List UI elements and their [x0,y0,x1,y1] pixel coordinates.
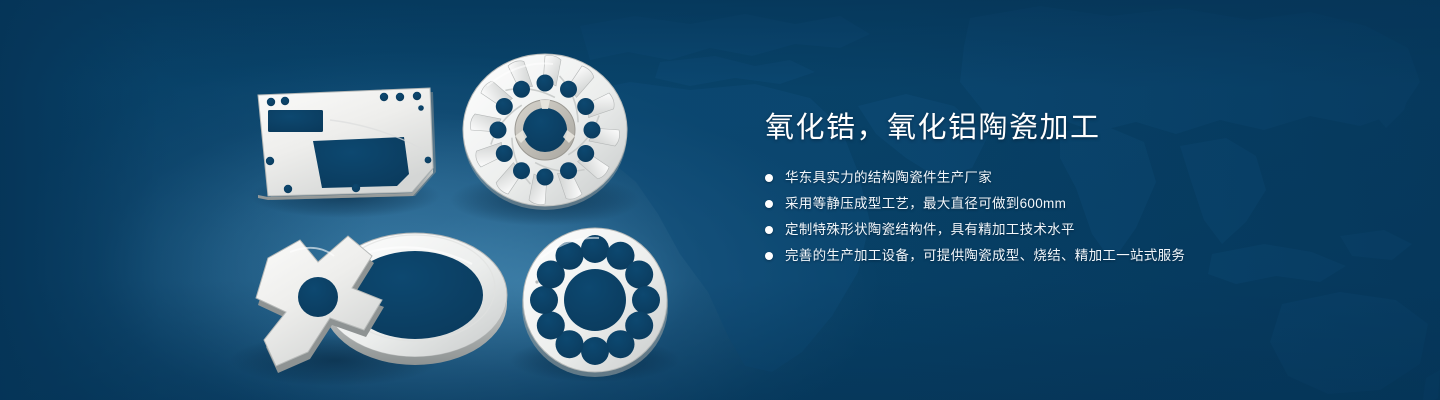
ceramic-holed-disc-part [522,228,668,377]
ceramic-products-photo [0,0,720,400]
bullet-dot-icon [765,200,773,208]
feature-text: 华东具实力的结构陶瓷件生产厂家 [785,166,992,190]
ceramic-plate-part [258,88,436,200]
list-item: 完善的生产加工设备，可提供陶瓷成型、烧结、精加工一站式服务 [765,244,1385,268]
ceramic-impeller-part [463,54,627,210]
page-title: 氧化锆，氧化铝陶瓷加工 [765,108,1385,148]
list-item: 采用等静压成型工艺，最大直径可做到600mm [765,192,1385,216]
bullet-dot-icon [765,252,773,260]
hero-banner: 氧化锆，氧化铝陶瓷加工 华东具实力的结构陶瓷件生产厂家 采用等静压成型工艺，最大… [0,0,1440,400]
list-item: 定制特殊形状陶瓷结构件，具有精加工技术水平 [765,218,1385,242]
banner-copy: 氧化锆，氧化铝陶瓷加工 华东具实力的结构陶瓷件生产厂家 采用等静压成型工艺，最大… [765,108,1385,268]
feature-list: 华东具实力的结构陶瓷件生产厂家 采用等静压成型工艺，最大直径可做到600mm 定… [765,166,1385,268]
bullet-dot-icon [765,174,773,182]
feature-text: 定制特殊形状陶瓷结构件，具有精加工技术水平 [785,218,1075,242]
list-item: 华东具实力的结构陶瓷件生产厂家 [765,166,1385,190]
feature-text: 采用等静压成型工艺，最大直径可做到600mm [785,192,1066,216]
feature-text: 完善的生产加工设备，可提供陶瓷成型、烧结、精加工一站式服务 [785,244,1185,268]
bullet-dot-icon [765,226,773,234]
